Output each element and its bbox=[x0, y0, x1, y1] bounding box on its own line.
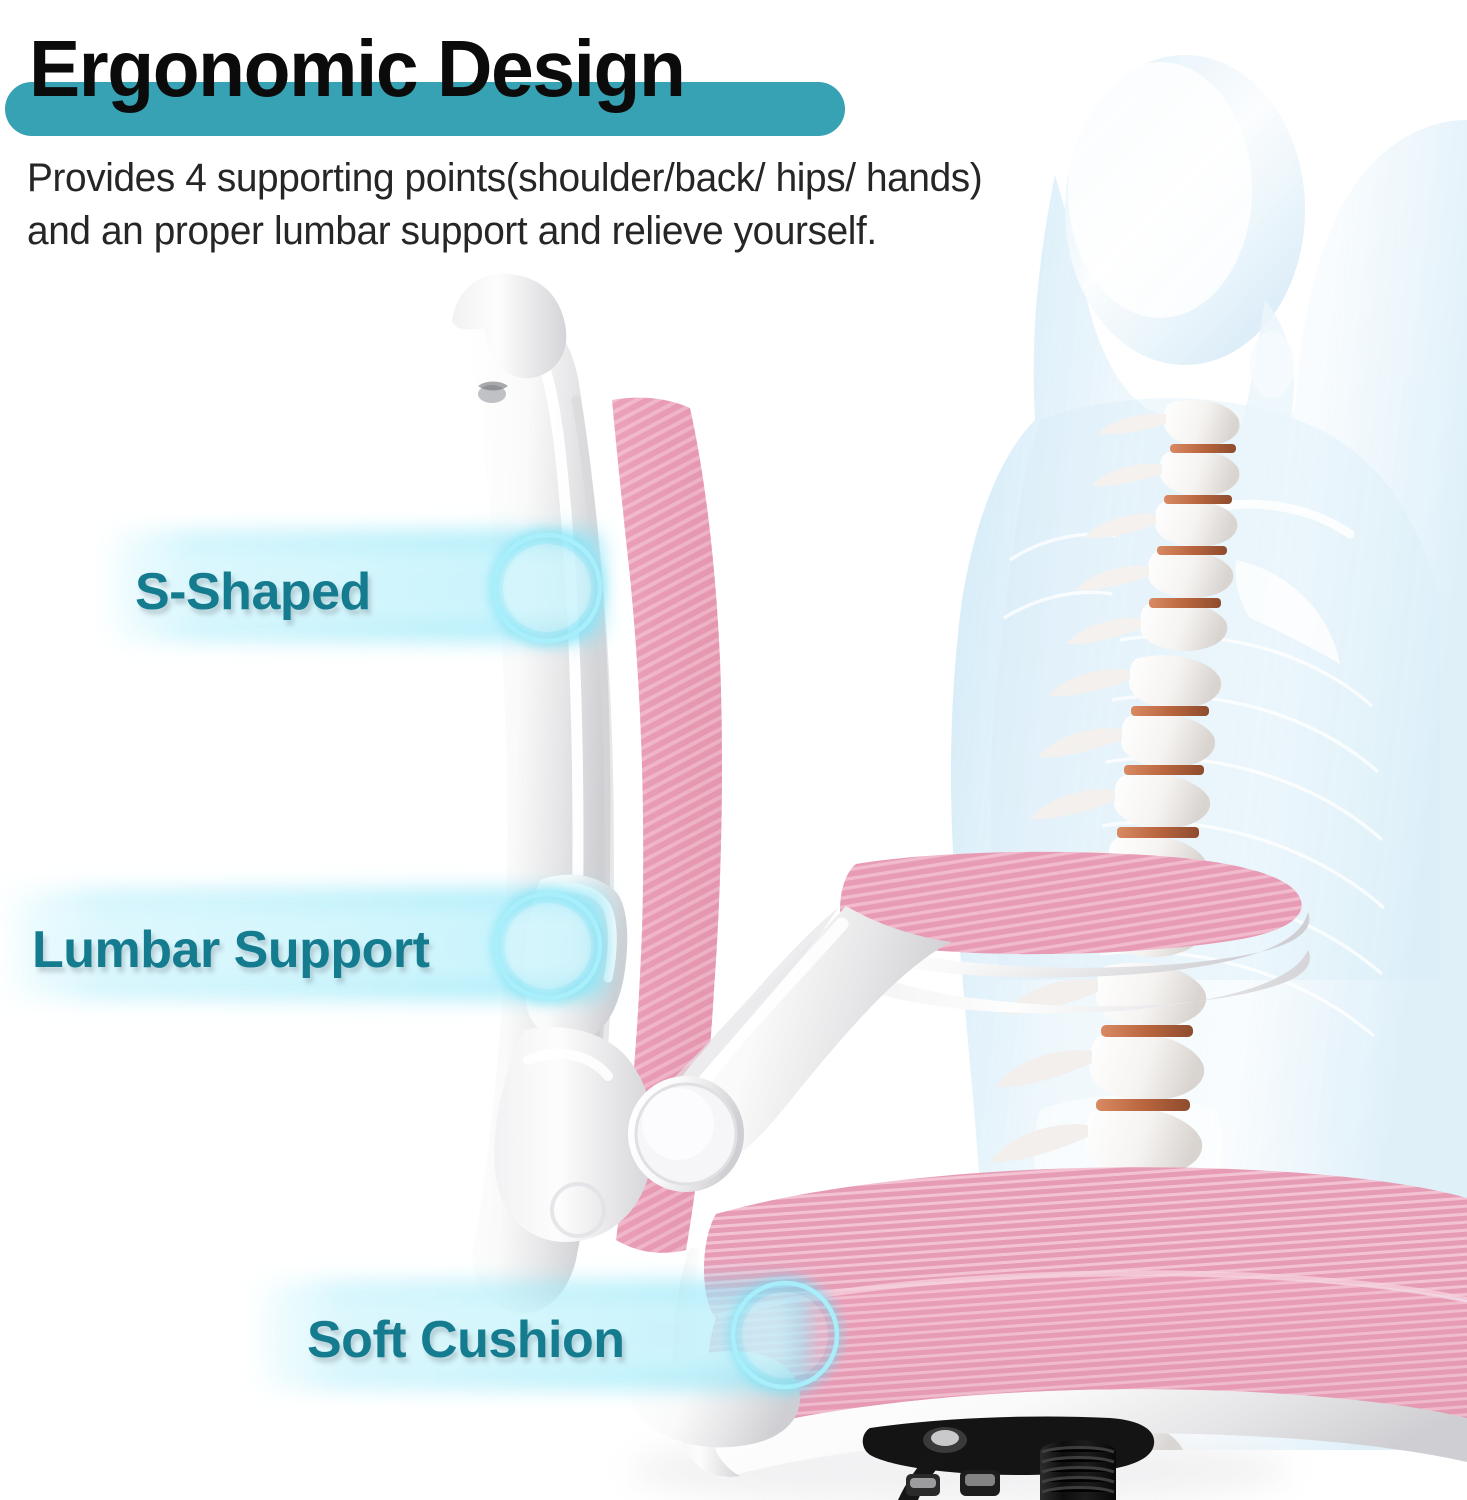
callout-label-s-shaped: S-Shaped bbox=[135, 562, 371, 622]
page-title: Ergonomic Design bbox=[29, 17, 684, 121]
header: Ergonomic Design Provides 4 supporting p… bbox=[0, 0, 1300, 290]
callout-lumbar-support: Lumbar Support bbox=[0, 858, 680, 1048]
callout-label-lumbar-support: Lumbar Support bbox=[32, 920, 429, 980]
callout-s-shaped: S-Shaped bbox=[95, 500, 675, 690]
subtitle-line-2: and an proper lumbar support and relieve… bbox=[27, 205, 1249, 258]
callout-soft-cushion: Soft Cushion bbox=[245, 1248, 905, 1438]
callout-label-soft-cushion: Soft Cushion bbox=[307, 1310, 625, 1370]
subtitle: Provides 4 supporting points(shoulder/ba… bbox=[27, 152, 1249, 258]
subtitle-line-1: Provides 4 supporting points(shoulder/ba… bbox=[27, 152, 1249, 205]
product-feature-graphic: Ergonomic Design Provides 4 supporting p… bbox=[0, 0, 1467, 1500]
